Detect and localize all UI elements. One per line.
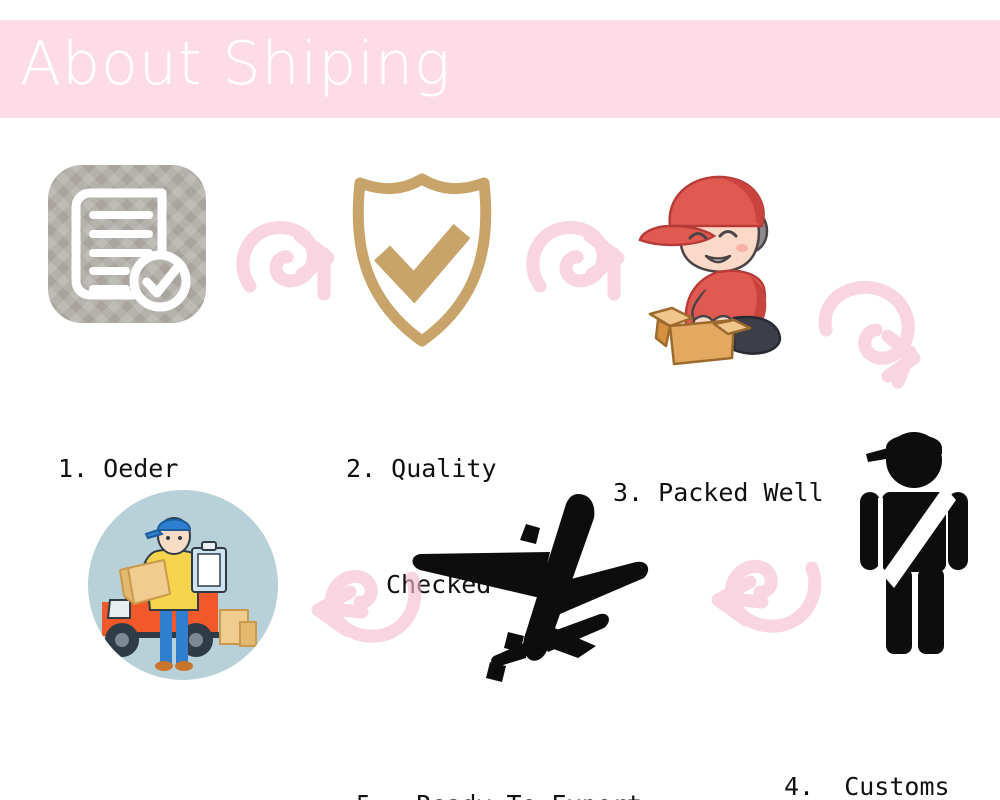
customs-officer-icon [852, 420, 1000, 664]
step-4-label-line-1: 4. Customs [784, 768, 975, 800]
step-5-label-line-1: 5. Ready To Export [356, 786, 642, 800]
shield-check-icon [332, 165, 512, 359]
swirl-arrow-left-icon [700, 528, 830, 643]
document-check-glyph [48, 165, 206, 323]
swirl-arrow-down-right-icon [812, 278, 942, 393]
customs-officer-glyph [852, 420, 1000, 660]
arrow-step3-to-step4 [812, 278, 942, 397]
document-check-icon [48, 165, 206, 323]
arrow-step5-to-step6 [300, 538, 430, 657]
swirl-arrow-left-icon [300, 538, 430, 653]
step-6-label: 6. Parcel Delivery [26, 732, 312, 800]
airplane-icon [400, 488, 680, 692]
worker-packing-box-glyph [622, 168, 812, 368]
step-5-label: 5. Ready To Export [356, 708, 642, 800]
step-4-label: 4. Customs Safe Check [784, 690, 975, 800]
worker-packing-box-icon [622, 168, 812, 372]
step-1-label-line-1: 1. Oeder [58, 450, 233, 489]
shield-check-glyph [332, 165, 512, 355]
delivery-truck-circle-icon [88, 490, 278, 680]
arrow-step4-to-step5 [700, 528, 830, 647]
airplane-glyph [400, 488, 680, 688]
infographic-page: About Shiping [0, 0, 1000, 800]
step-2-label-line-1: 2. Quality [346, 450, 497, 489]
delivery-truck-glyph [88, 490, 278, 680]
page-title: About Shiping [20, 34, 451, 94]
